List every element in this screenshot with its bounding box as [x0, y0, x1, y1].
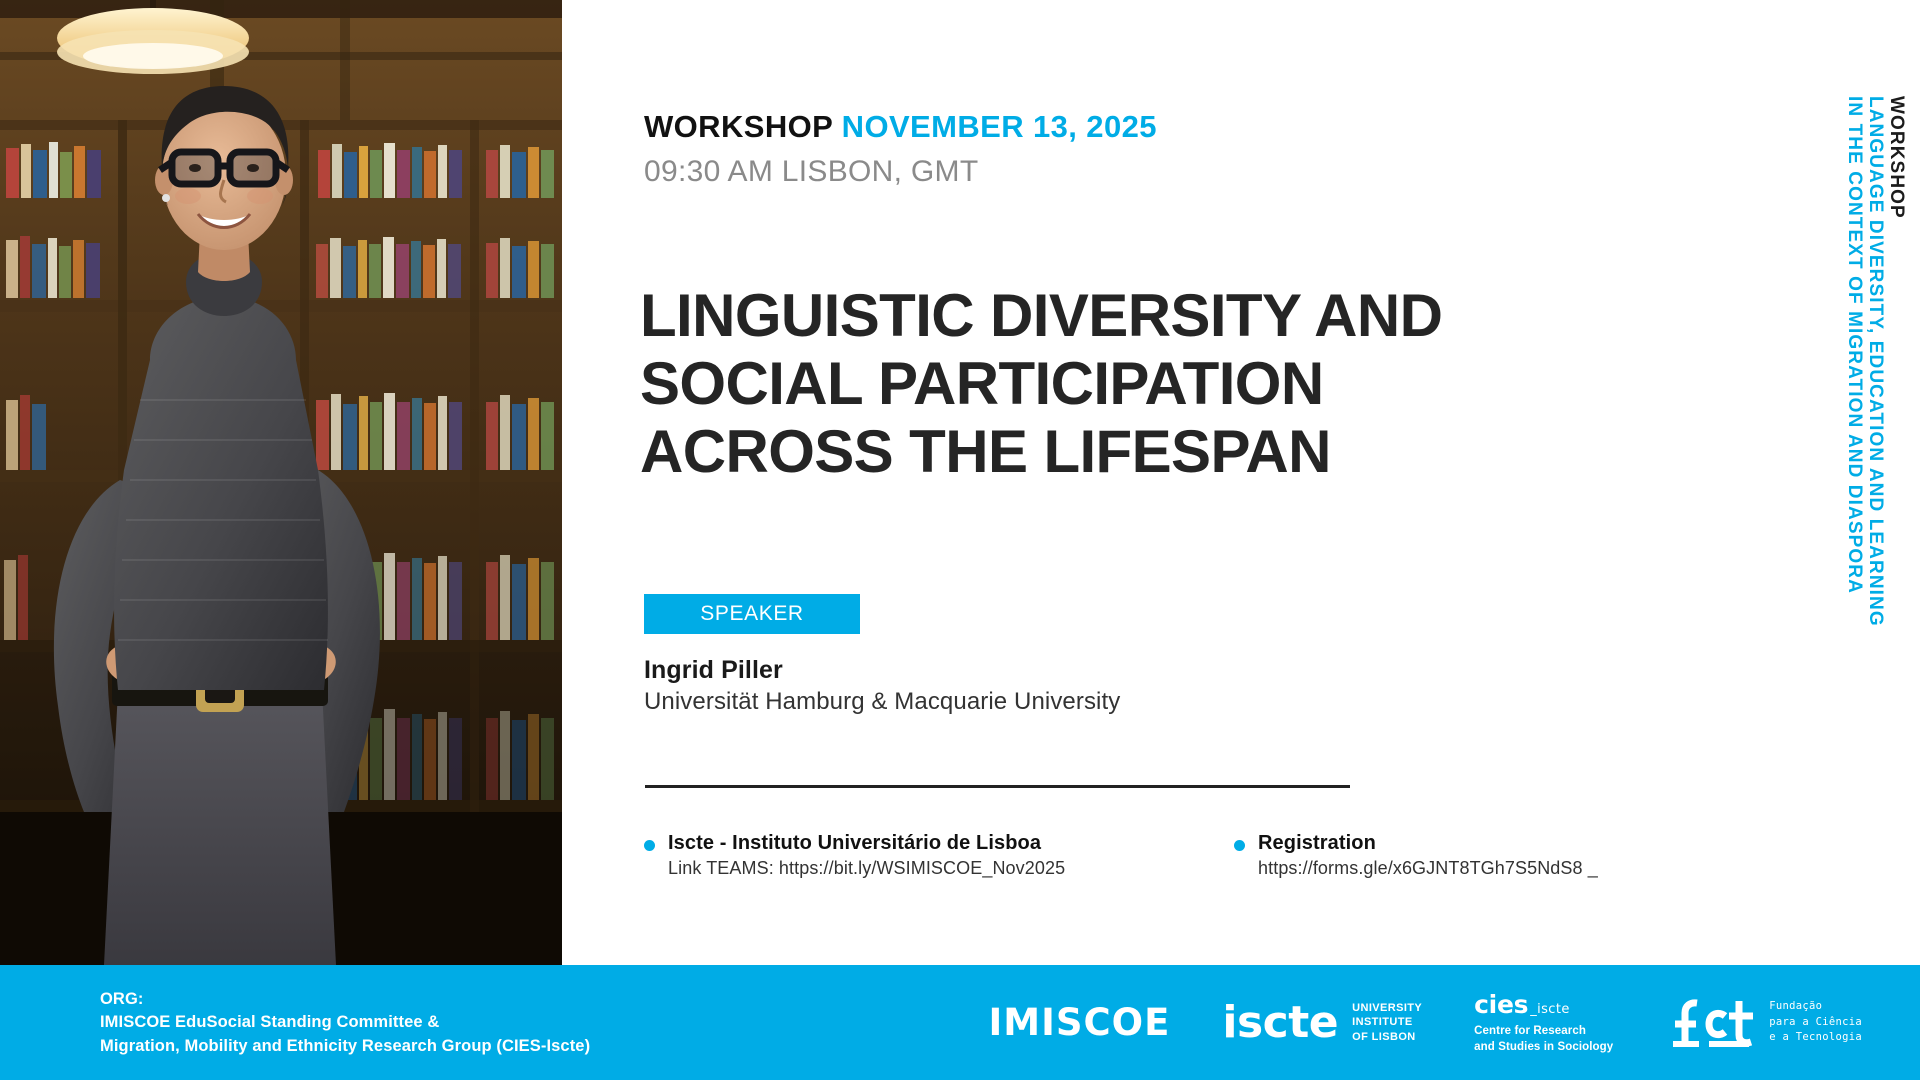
org-line-1: IMISCOE EduSocial Standing Committee & [100, 1011, 590, 1034]
footer-logos: IMISCOE iscte UNIVERSITY INSTITUTE OF LI… [989, 965, 1862, 1080]
registration-form-link[interactable]: https://forms.gle/x6GJNT8TGh7S5NdS8 _ [1258, 858, 1598, 879]
iscte-wordmark: iscte [1222, 1001, 1338, 1045]
bullet-dot-icon [644, 840, 655, 851]
org-line-2: Migration, Mobility and Ethnicity Resear… [100, 1035, 590, 1058]
footer-bar: ORG: IMISCOE EduSocial Standing Committe… [0, 965, 1920, 1080]
cies-logo: cies _iscte Centre for Research and Stud… [1474, 990, 1613, 1055]
fct-mark-icon [1665, 997, 1757, 1049]
imiscoe-logo: IMISCOE [989, 1001, 1171, 1044]
cies-subtitle-line-1: Centre for Research [1474, 1024, 1613, 1040]
cies-subtitle: Centre for Research and Studies in Socio… [1474, 1024, 1613, 1055]
link-block-registration: Registration https://forms.gle/x6GJNT8TG… [1234, 832, 1598, 879]
venue-heading: Iscte - Instituto Universitário de Lisbo… [668, 832, 1041, 855]
iscte-logo: iscte UNIVERSITY INSTITUTE OF LISBON [1222, 1001, 1422, 1045]
fct-subtitle-line-2: para a Ciência [1769, 1015, 1862, 1031]
workshop-poster: WORKSHOP LANGUAGE DIVERSITY, EDUCATION A… [0, 0, 1920, 1080]
title-line-2: SOCIAL PARTICIPATION [640, 350, 1700, 418]
speaker-photo-illustration [0, 0, 562, 965]
speaker-photo [0, 0, 562, 965]
organizers-block: ORG: IMISCOE EduSocial Standing Committe… [100, 988, 590, 1058]
vertical-series-strip: WORKSHOP LANGUAGE DIVERSITY, EDUCATION A… [1786, 96, 1906, 756]
title-line-3: ACROSS THE LIFESPAN [640, 418, 1700, 486]
event-time: 09:30 AM LISBON, GMT [644, 152, 1644, 193]
iscte-subtitle-line-2: INSTITUTE [1352, 1015, 1422, 1030]
vertical-label-topic: LANGUAGE DIVERSITY, EDUCATION AND LEARNI… [1866, 96, 1885, 627]
speaker-affiliation: Universität Hamburg & Macquarie Universi… [644, 688, 1120, 716]
cies-wordmark-row: cies _iscte [1474, 990, 1613, 1019]
cies-wordmark: cies [1474, 990, 1528, 1019]
vertical-label-context: IN THE CONTEXT OF MIGRATION AND DIASPORA [1845, 96, 1864, 594]
vertical-label-workshop: WORKSHOP [1887, 96, 1906, 219]
cies-iscte-mark: _iscte [1530, 1002, 1570, 1017]
page-title: LINGUISTIC DIVERSITY AND SOCIAL PARTICIP… [640, 282, 1700, 485]
venue-teams-link[interactable]: Link TEAMS: https://bit.ly/WSIMISCOE_Nov… [668, 858, 1065, 879]
link-heading-row: Iscte - Instituto Universitário de Lisbo… [644, 832, 1065, 855]
registration-heading: Registration [1258, 832, 1376, 855]
fct-subtitle: Fundação para a Ciência e a Tecnologia [1769, 999, 1862, 1046]
iscte-subtitle: UNIVERSITY INSTITUTE OF LISBON [1352, 1001, 1422, 1045]
fct-logo: Fundação para a Ciência e a Tecnologia [1665, 997, 1862, 1049]
event-headline: WORKSHOP NOVEMBER 13, 2025 [644, 108, 1644, 147]
org-label: ORG: [100, 988, 590, 1011]
fct-subtitle-line-1: Fundação [1769, 999, 1862, 1015]
speaker-badge: SPEAKER [644, 594, 860, 634]
title-line-1: LINGUISTIC DIVERSITY AND [640, 282, 1700, 350]
event-meta: WORKSHOP NOVEMBER 13, 2025 09:30 AM LISB… [644, 108, 1644, 192]
event-date: NOVEMBER 13, 2025 [842, 109, 1157, 144]
link-block-venue: Iscte - Instituto Universitário de Lisbo… [644, 832, 1065, 879]
iscte-subtitle-line-3: OF LISBON [1352, 1030, 1422, 1045]
speaker-name: Ingrid Piller [644, 656, 783, 685]
bullet-dot-icon [1234, 840, 1245, 851]
link-heading-row: Registration [1234, 832, 1598, 855]
iscte-subtitle-line-1: UNIVERSITY [1352, 1001, 1422, 1016]
event-kind-label: WORKSHOP [644, 109, 833, 144]
cies-subtitle-line-2: and Studies in Sociology [1474, 1040, 1613, 1056]
fct-subtitle-line-3: e a Tecnologia [1769, 1030, 1862, 1046]
section-divider [645, 785, 1350, 788]
